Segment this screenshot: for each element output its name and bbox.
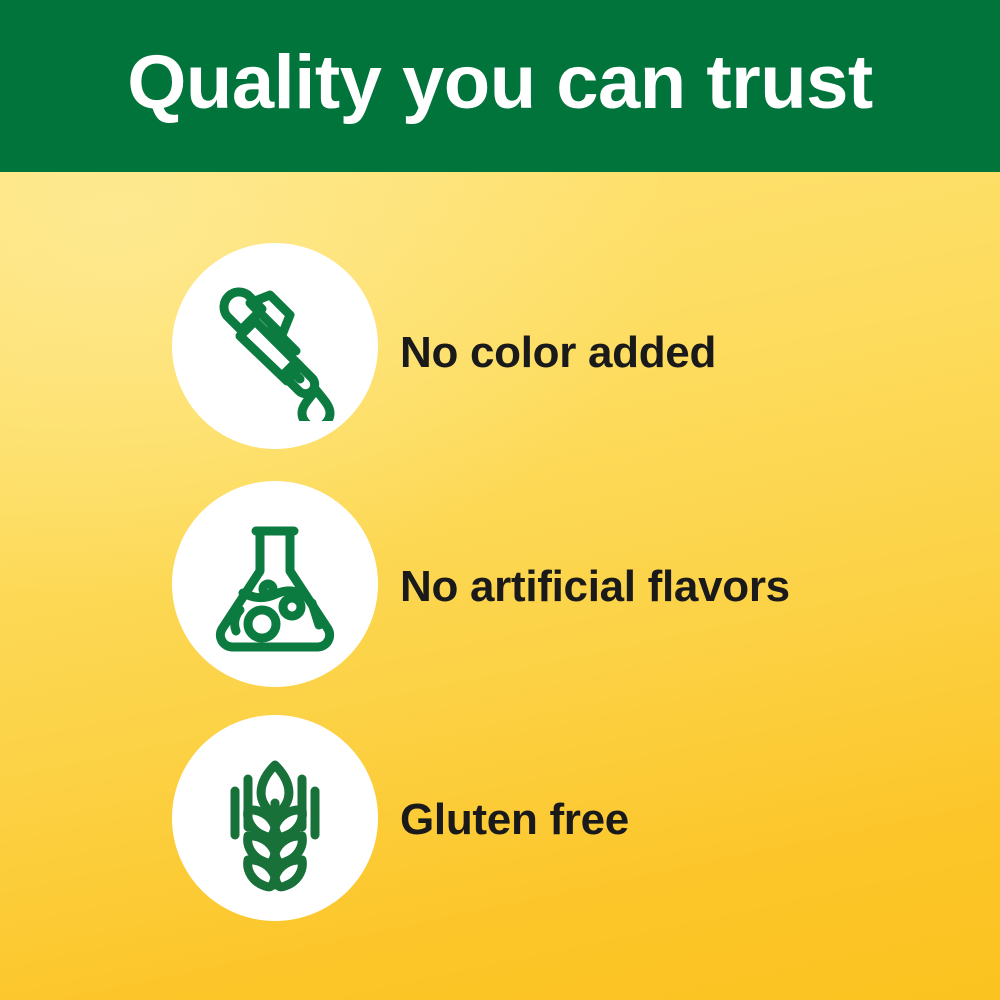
quality-claims-panel: Quality you can trust bbox=[0, 0, 1000, 1000]
feature-label: Gluten free bbox=[400, 796, 629, 844]
wheat-icon bbox=[200, 743, 350, 893]
feature-item-no-color-added: No color added bbox=[0, 242, 1000, 450]
feature-item-gluten-free: Gluten free bbox=[0, 714, 1000, 922]
dropper-icon bbox=[200, 271, 350, 421]
icon-badge bbox=[172, 715, 378, 921]
icon-badge bbox=[172, 481, 378, 687]
feature-item-no-artificial-flavors: No artificial flavors bbox=[0, 480, 1000, 688]
feature-label: No artificial flavors bbox=[400, 563, 790, 611]
feature-list: No color added bbox=[0, 168, 1000, 1000]
header-band: Quality you can trust bbox=[0, 0, 1000, 172]
flask-icon bbox=[200, 509, 350, 659]
page-title: Quality you can trust bbox=[0, 0, 1000, 172]
feature-label: No color added bbox=[400, 329, 716, 377]
icon-badge bbox=[172, 243, 378, 449]
